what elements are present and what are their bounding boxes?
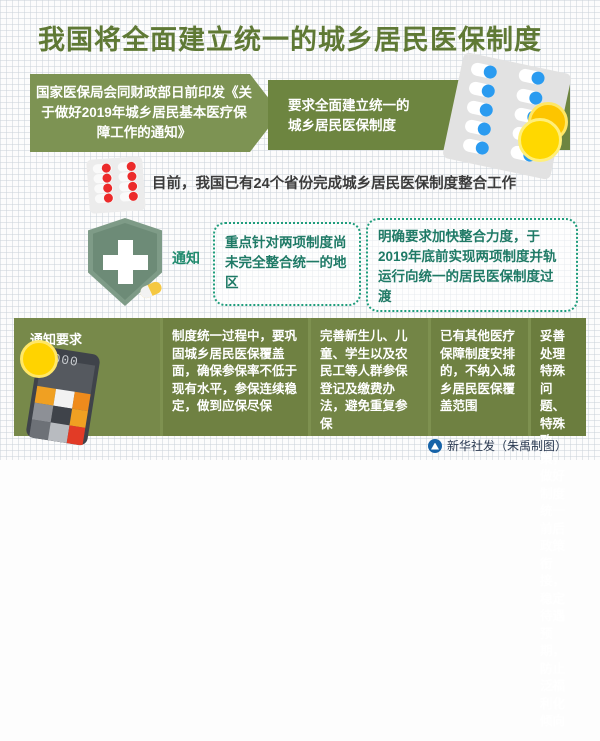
gold-coin-icon [20,340,58,378]
requirement-line-2: 城乡居民医保制度 [288,116,410,136]
page-title: 我国将全面建立统一的城乡居民医保制度 [38,18,578,57]
notice-arrow-box: 国家医保局会同财政部日前印发《关于做好2019年城乡居民基本医疗保障工作的通知》 [30,74,280,152]
requirement-column: 完善新生儿、儿童、学生以及农民工等人群参保登记及缴费办法，避免重复参保 [308,318,428,436]
credit-text: 新华社发（朱禹制图） [447,437,567,454]
requirements-panel-header: 通知要求 0000 [14,318,160,436]
requirement-column-text: 完善新生儿、儿童、学生以及农民工等人群参保登记及缴费办法，避免重复参保 [311,318,428,443]
requirement-box-text: 要求全面建立统一的 城乡居民医保制度 [288,96,410,136]
medical-shield-cross-icon [88,218,162,306]
callout-right-text: 明确要求加快整合力度，于2019年底前实现两项制度并轨运行向统一的居民医保制度过… [368,220,576,314]
requirement-column-text: 制度统一过程中，要巩固城乡居民医保覆盖面，确保参保率不低于现有水平，参保连续稳定… [163,318,308,426]
callout-unintegrated-regions: 重点针对两项制度尚未完全整合统一的地区 [213,222,361,306]
requirements-panel: 通知要求 0000 制度统一过程中，要巩固城乡居民医保覆盖面，确保参保率不低于现… [14,318,586,436]
xinhua-logo-icon [428,439,442,453]
requirement-column-text: 已有其他医疗保障制度安排的，不纳入城乡居民医保覆盖范围 [431,318,528,426]
province-progress-text: 目前，我国已有24个省份完成城乡居民医保制度整合工作 [152,172,582,193]
requirement-line-1: 要求全面建立统一的 [288,96,410,116]
requirement-column: 已有其他医疗保障制度安排的，不纳入城乡居民医保覆盖范围 [428,318,528,436]
requirement-column: 妥善处理特殊问题、特殊政策，做好制度统一前后政策衔接，稳定待遇预期，防止泛福利化… [528,318,586,436]
callout-2019-deadline: 明确要求加快整合力度，于2019年底前实现两项制度并轨运行向统一的居民医保制度过… [366,218,578,312]
notice-box-text: 国家医保局会同财政部日前印发《关于做好2019年城乡居民基本医疗保障工作的通知》 [35,83,253,143]
requirement-column-text: 妥善处理特殊问题、特殊政策，做好制度统一前后政策衔接，稳定待遇预期，防止泛福利化… [531,318,586,741]
notice-label: 通知 [172,248,200,268]
requirement-column: 制度统一过程中，要巩固城乡居民医保覆盖面，确保参保率不低于现有水平，参保连续稳定… [160,318,308,436]
callout-left-text: 重点针对两项制度尚未完全整合统一的地区 [215,224,359,302]
gold-coin-icon [518,118,562,162]
credit-line: 新华社发（朱禹制图） [428,437,567,454]
red-capsule-blister-pack-icon [86,156,146,214]
